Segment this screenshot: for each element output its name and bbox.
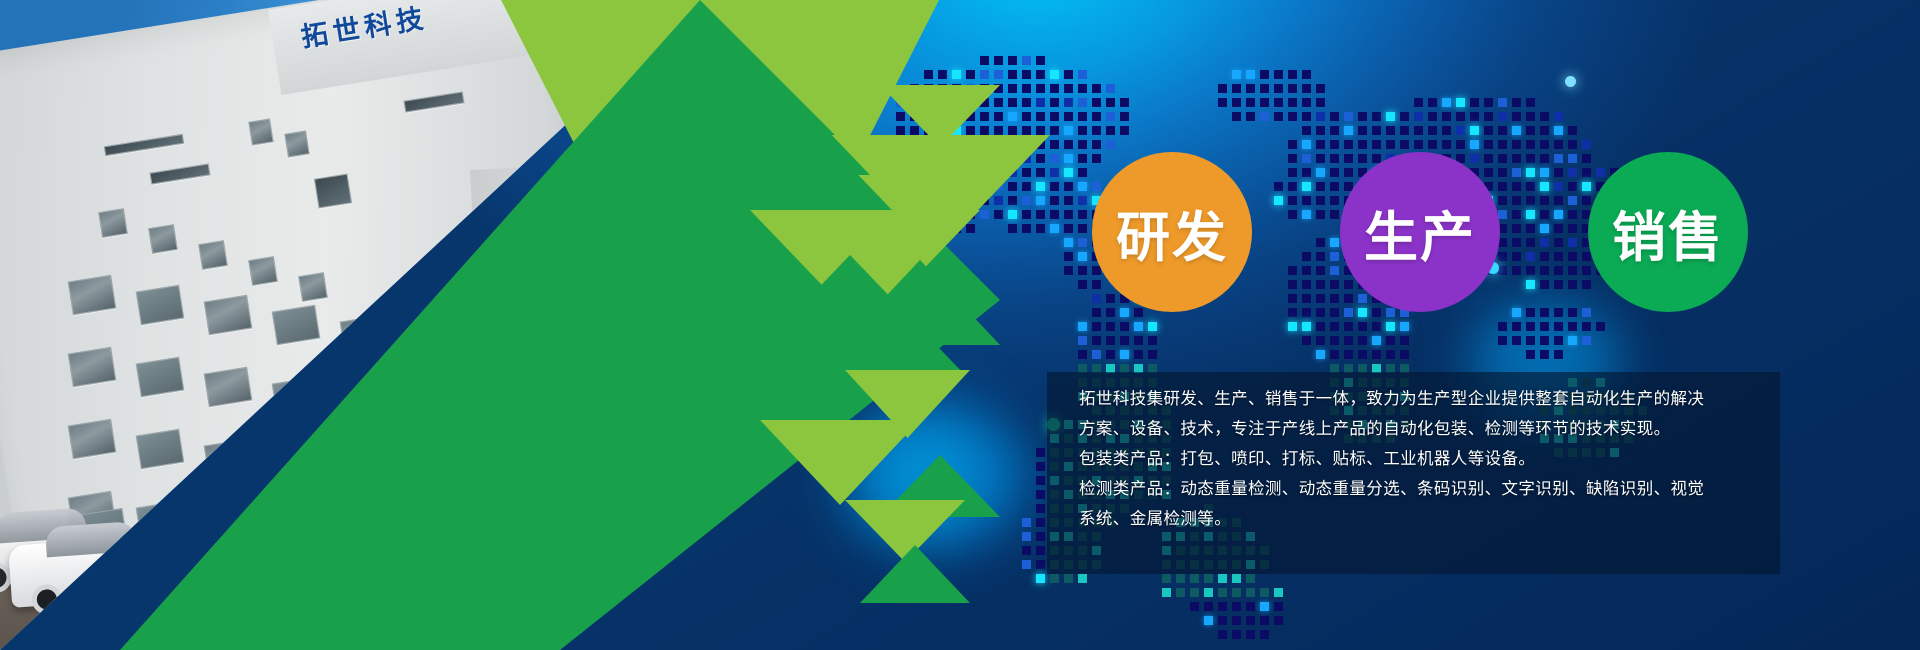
map-dot	[1036, 196, 1045, 205]
map-dot	[1330, 112, 1339, 121]
map-dot	[1260, 84, 1269, 93]
map-dot	[1134, 336, 1143, 345]
map-dot	[1106, 294, 1115, 303]
map-dot	[1288, 196, 1297, 205]
map-dot	[1400, 140, 1409, 149]
building-window	[314, 174, 352, 209]
map-dot	[1330, 126, 1339, 135]
map-dot	[1120, 308, 1129, 317]
map-dot	[1302, 168, 1311, 177]
map-dot	[1036, 98, 1045, 107]
map-dot	[1218, 98, 1227, 107]
map-dot	[1358, 126, 1367, 135]
map-dot	[1554, 168, 1563, 177]
map-dot	[1330, 182, 1339, 191]
map-dot	[1232, 70, 1241, 79]
map-dot	[1050, 168, 1059, 177]
map-dot	[1526, 308, 1535, 317]
map-dot	[1470, 112, 1479, 121]
map-dot	[1106, 140, 1115, 149]
map-dot	[1106, 322, 1115, 331]
map-dot	[1078, 98, 1087, 107]
map-dot	[1246, 588, 1255, 597]
map-dot	[1064, 196, 1073, 205]
map-dot	[1106, 112, 1115, 121]
map-dot	[1330, 308, 1339, 317]
map-dot	[1302, 126, 1311, 135]
map-dot	[1316, 98, 1325, 107]
map-dot	[1554, 238, 1563, 247]
map-dot	[1554, 336, 1563, 345]
map-dot	[1372, 336, 1381, 345]
map-dot	[1568, 252, 1577, 261]
map-dot	[1540, 224, 1549, 233]
building-window	[98, 208, 128, 238]
map-dot	[1078, 182, 1087, 191]
map-dot	[1302, 112, 1311, 121]
map-dot	[1218, 84, 1227, 93]
map-dot	[1582, 196, 1591, 205]
map-dot	[1022, 518, 1031, 527]
map-dot	[1512, 126, 1521, 135]
map-dot	[1596, 322, 1605, 331]
map-dot	[1372, 112, 1381, 121]
map-dot	[1568, 126, 1577, 135]
map-dot	[1050, 224, 1059, 233]
map-dot	[1582, 182, 1591, 191]
map-dot	[1302, 98, 1311, 107]
map-dot	[1568, 154, 1577, 163]
map-dot	[1568, 224, 1577, 233]
map-dot	[1414, 126, 1423, 135]
building-window	[298, 272, 328, 302]
map-dot	[1302, 70, 1311, 79]
map-dot	[1512, 196, 1521, 205]
map-dot	[1022, 182, 1031, 191]
map-dot	[1190, 602, 1199, 611]
map-dot	[1582, 140, 1591, 149]
map-dot	[1078, 238, 1087, 247]
description-text: 拓世科技集研发、生产、销售于一体，致力为生产型企业提供整套自动化生产的解决方案、…	[1079, 384, 1762, 534]
map-dot	[1512, 238, 1521, 247]
map-dot	[1330, 252, 1339, 261]
map-dot	[1120, 112, 1129, 121]
map-dot	[1120, 126, 1129, 135]
map-dot	[1022, 560, 1031, 569]
map-dot	[1204, 588, 1213, 597]
map-dot	[1316, 308, 1325, 317]
map-dot	[1358, 336, 1367, 345]
map-dot	[1092, 280, 1101, 289]
map-dot	[1316, 196, 1325, 205]
map-dot	[938, 70, 947, 79]
map-dot	[1008, 196, 1017, 205]
map-dot	[1092, 140, 1101, 149]
map-dot	[980, 210, 989, 219]
map-dot	[1078, 140, 1087, 149]
map-dot	[1330, 154, 1339, 163]
map-dot	[1302, 252, 1311, 261]
map-dot	[1106, 84, 1115, 93]
map-dot	[1050, 70, 1059, 79]
map-dot	[1036, 560, 1045, 569]
map-dot	[1358, 154, 1367, 163]
map-dot	[1526, 98, 1535, 107]
map-dot	[1036, 168, 1045, 177]
map-dot	[1120, 336, 1129, 345]
map-dot	[1554, 252, 1563, 261]
map-dot	[1092, 112, 1101, 121]
map-dot	[1036, 574, 1045, 583]
map-dot	[1596, 168, 1605, 177]
map-dot	[1134, 308, 1143, 317]
map-dot	[1386, 140, 1395, 149]
map-dot	[1064, 168, 1073, 177]
map-dot	[1260, 630, 1269, 639]
map-dot	[1022, 546, 1031, 555]
map-dot	[1078, 154, 1087, 163]
map-dot	[1022, 112, 1031, 121]
map-dot	[1568, 266, 1577, 275]
map-dot	[1274, 182, 1283, 191]
map-dot	[1428, 126, 1437, 135]
map-dot	[1554, 210, 1563, 219]
map-dot	[1288, 168, 1297, 177]
map-dot	[1526, 336, 1535, 345]
map-dot	[1008, 84, 1017, 93]
map-dot	[1106, 98, 1115, 107]
map-dot	[1400, 126, 1409, 135]
map-dot	[1386, 350, 1395, 359]
map-dot	[1008, 224, 1017, 233]
map-dot	[1232, 574, 1241, 583]
map-dot	[1316, 336, 1325, 345]
map-dot	[1106, 126, 1115, 135]
map-dot	[980, 126, 989, 135]
badge-rnd[interactable]: 研发	[1092, 152, 1252, 312]
map-dot	[980, 70, 989, 79]
map-dot	[1092, 350, 1101, 359]
map-dot	[1106, 336, 1115, 345]
map-dot	[1512, 154, 1521, 163]
map-dot	[1218, 588, 1227, 597]
map-dot	[1568, 196, 1577, 205]
map-dot	[1022, 210, 1031, 219]
map-dot	[1330, 280, 1339, 289]
map-dot	[1008, 56, 1017, 65]
map-dot	[1274, 112, 1283, 121]
map-dot	[1582, 322, 1591, 331]
map-dot	[1260, 602, 1269, 611]
map-dot	[1274, 602, 1283, 611]
map-dot	[1246, 98, 1255, 107]
map-dot	[1540, 280, 1549, 289]
map-dot	[1050, 140, 1059, 149]
map-dot	[1498, 168, 1507, 177]
badge-sales[interactable]: 销售	[1588, 152, 1748, 312]
map-dot	[1288, 70, 1297, 79]
map-dot	[896, 126, 905, 135]
map-dot	[1302, 308, 1311, 317]
map-dot	[1512, 308, 1521, 317]
map-dot	[1050, 154, 1059, 163]
map-dot	[1036, 462, 1045, 471]
map-dot	[1288, 84, 1297, 93]
map-dot	[1512, 210, 1521, 219]
description-line: 检测类产品：动态重量检测、动态重量分选、条码识别、文字识别、缺陷识别、视觉	[1079, 474, 1762, 504]
building-window	[248, 118, 273, 145]
map-dot	[1540, 140, 1549, 149]
map-dot	[1470, 140, 1479, 149]
map-dot	[1288, 98, 1297, 107]
map-dot	[1022, 168, 1031, 177]
map-dot	[1204, 616, 1213, 625]
map-dot	[1568, 140, 1577, 149]
map-dot	[1428, 98, 1437, 107]
map-dot	[1582, 308, 1591, 317]
building-window	[198, 240, 228, 270]
map-dot	[1316, 210, 1325, 219]
map-dot	[980, 112, 989, 121]
map-dot	[1484, 140, 1493, 149]
map-dot	[1456, 98, 1465, 107]
map-dot	[1372, 126, 1381, 135]
map-dot	[1316, 280, 1325, 289]
map-dot	[1204, 602, 1213, 611]
map-dot	[910, 126, 919, 135]
map-dot	[1232, 84, 1241, 93]
map-dot	[1036, 70, 1045, 79]
map-dot	[1344, 350, 1353, 359]
map-dot	[1036, 224, 1045, 233]
map-dot	[1414, 98, 1423, 107]
description-line: 系统、金属检测等。	[1079, 504, 1762, 534]
map-dot	[1582, 252, 1591, 261]
map-dot	[1064, 70, 1073, 79]
map-dot	[1498, 140, 1507, 149]
map-dot	[1484, 154, 1493, 163]
map-dot	[1022, 532, 1031, 541]
map-dot	[1386, 126, 1395, 135]
map-dot	[1232, 602, 1241, 611]
map-dot	[1064, 154, 1073, 163]
map-dot	[1036, 490, 1045, 499]
map-dot	[1400, 350, 1409, 359]
map-dot	[1316, 182, 1325, 191]
map-dot	[1148, 322, 1157, 331]
map-dot	[1302, 182, 1311, 191]
map-dot	[1512, 322, 1521, 331]
map-dot	[1050, 112, 1059, 121]
map-dot	[1078, 336, 1087, 345]
map-dot	[1316, 294, 1325, 303]
map-dot	[1008, 182, 1017, 191]
map-dot	[1344, 168, 1353, 177]
map-dot	[1302, 294, 1311, 303]
map-dot	[1372, 140, 1381, 149]
map-dot	[1092, 126, 1101, 135]
map-dot	[1078, 210, 1087, 219]
map-dot	[1022, 196, 1031, 205]
map-dot	[1456, 112, 1465, 121]
map-dot	[1092, 84, 1101, 93]
map-dot	[1568, 168, 1577, 177]
map-dot	[1540, 322, 1549, 331]
map-dot	[1330, 168, 1339, 177]
map-dot	[1078, 112, 1087, 121]
map-dot	[1036, 448, 1045, 457]
map-dot	[1498, 112, 1507, 121]
map-dot	[1568, 280, 1577, 289]
map-dot	[1064, 252, 1073, 261]
map-dot	[1274, 196, 1283, 205]
map-dot	[1526, 266, 1535, 275]
building-window	[68, 419, 117, 459]
badge-label: 生产	[1364, 193, 1476, 272]
description-line: 包装类产品：打包、喷印、打标、贴标、工业机器人等设备。	[1079, 444, 1762, 474]
map-dot	[1246, 616, 1255, 625]
map-dot	[1064, 238, 1073, 247]
map-dot	[1204, 574, 1213, 583]
map-dot	[1036, 476, 1045, 485]
map-dot	[1512, 98, 1521, 107]
map-dot	[1092, 322, 1101, 331]
map-dot	[994, 112, 1003, 121]
map-dot	[1036, 126, 1045, 135]
map-dot	[1554, 140, 1563, 149]
map-dot	[1036, 182, 1045, 191]
map-dot	[1400, 322, 1409, 331]
map-dot	[1554, 224, 1563, 233]
map-dot	[1582, 154, 1591, 163]
map-dot	[1428, 112, 1437, 121]
map-dot	[1358, 294, 1367, 303]
map-dot	[1498, 154, 1507, 163]
map-dot	[1316, 266, 1325, 275]
map-dot	[1526, 322, 1535, 331]
map-dot	[1316, 238, 1325, 247]
map-dot	[1484, 98, 1493, 107]
map-dot	[1288, 210, 1297, 219]
map-dot	[1358, 350, 1367, 359]
map-dot	[1316, 126, 1325, 135]
map-dot	[1218, 630, 1227, 639]
map-dot	[1120, 350, 1129, 359]
map-dot	[1106, 308, 1115, 317]
map-dot	[1036, 518, 1045, 527]
map-dot	[1414, 140, 1423, 149]
map-dot	[1568, 308, 1577, 317]
map-dot	[1400, 336, 1409, 345]
map-dot	[1568, 336, 1577, 345]
map-dot	[1260, 98, 1269, 107]
building-window	[68, 275, 117, 315]
map-dot	[1078, 196, 1087, 205]
map-dot	[1358, 140, 1367, 149]
map-dot	[1092, 98, 1101, 107]
map-dot	[1246, 574, 1255, 583]
map-dot	[1526, 196, 1535, 205]
map-dot	[1568, 322, 1577, 331]
map-dot	[1512, 140, 1521, 149]
map-dot	[1526, 182, 1535, 191]
map-dot	[1120, 322, 1129, 331]
map-dot	[1582, 336, 1591, 345]
building-window	[136, 357, 185, 397]
building-window	[272, 305, 321, 345]
map-dot	[1134, 322, 1143, 331]
map-dot	[1050, 84, 1059, 93]
map-dot	[1554, 308, 1563, 317]
map-dot	[1302, 322, 1311, 331]
map-dot	[1176, 588, 1185, 597]
building-window	[136, 285, 185, 325]
map-dot	[1288, 280, 1297, 289]
map-dot	[1274, 70, 1283, 79]
map-dot	[1022, 98, 1031, 107]
map-dot	[1176, 574, 1185, 583]
map-dot	[1232, 588, 1241, 597]
map-dot	[1078, 574, 1087, 583]
map-dot	[1232, 616, 1241, 625]
map-dot	[1484, 112, 1493, 121]
map-dot	[1568, 210, 1577, 219]
map-dot	[994, 56, 1003, 65]
map-dot	[1190, 588, 1199, 597]
map-dot	[1064, 574, 1073, 583]
map-dot	[1442, 140, 1451, 149]
map-dot	[1022, 70, 1031, 79]
description-line: 方案、设备、技术，专注于产线上产品的自动化包装、检测等环节的技术实现。	[1079, 414, 1762, 444]
map-dot	[1036, 154, 1045, 163]
map-dot	[1554, 350, 1563, 359]
map-dot	[1540, 266, 1549, 275]
map-dot	[1540, 308, 1549, 317]
map-dot	[994, 98, 1003, 107]
map-dot	[1428, 140, 1437, 149]
building-window	[204, 295, 253, 335]
map-dot	[1498, 98, 1507, 107]
map-dot	[1554, 280, 1563, 289]
building-window	[248, 256, 278, 286]
map-dot	[1498, 210, 1507, 219]
map-dot	[966, 70, 975, 79]
map-dot	[1008, 98, 1017, 107]
map-dot	[1050, 182, 1059, 191]
map-dot	[1316, 168, 1325, 177]
map-dot	[1386, 336, 1395, 345]
map-dot	[1232, 630, 1241, 639]
map-dot	[1554, 154, 1563, 163]
map-dot	[1078, 266, 1087, 275]
map-dot	[1330, 196, 1339, 205]
map-dot	[1246, 630, 1255, 639]
map-dot	[1302, 266, 1311, 275]
map-dot	[1106, 350, 1115, 359]
map-dot	[1302, 140, 1311, 149]
map-dot	[1260, 70, 1269, 79]
map-dot	[1344, 322, 1353, 331]
map-dot	[1498, 126, 1507, 135]
map-dot	[1092, 308, 1101, 317]
map-dot	[994, 196, 1003, 205]
badge-production[interactable]: 生产	[1340, 152, 1500, 312]
map-dot	[1274, 84, 1283, 93]
map-dot	[1078, 280, 1087, 289]
map-dot	[1064, 266, 1073, 275]
map-dot	[1316, 140, 1325, 149]
map-dot	[1288, 308, 1297, 317]
